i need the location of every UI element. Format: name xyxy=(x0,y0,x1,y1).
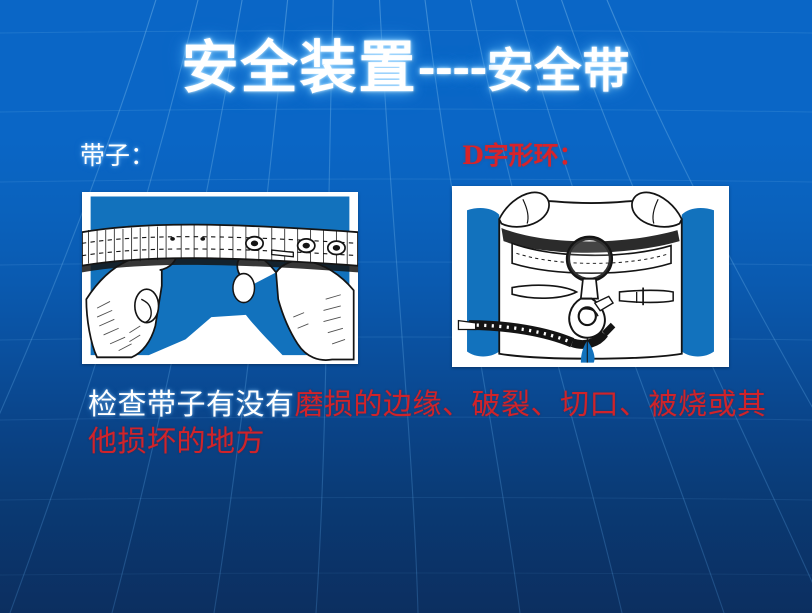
strap-inspection-photo[interactable] xyxy=(82,192,358,364)
d-ring-photo[interactable] xyxy=(452,186,729,367)
strap-inspection-drawing xyxy=(82,192,358,364)
slide-title: 安全装置----安全带 xyxy=(0,38,812,98)
d-ring-drawing xyxy=(452,186,729,367)
caption-text: 检查带子有没有磨损的边缘、破裂、切口、被烧或其他损坏的地方 xyxy=(88,386,788,459)
slide-title-main: 安全装置 xyxy=(181,38,417,98)
dring-label: D字形环： xyxy=(462,136,584,172)
caption-line1-red: 磨损的边缘、破裂、切口、被 xyxy=(295,387,679,421)
slide-title-dash: ---- xyxy=(417,46,486,92)
strap-label: 带子： xyxy=(80,136,155,172)
caption-line1-white: 检查带子有没有 xyxy=(88,387,295,421)
slide-canvas: 安全装置----安全带 带子： D字形环： xyxy=(0,0,812,613)
slide-title-sub: 安全带 xyxy=(487,47,631,96)
